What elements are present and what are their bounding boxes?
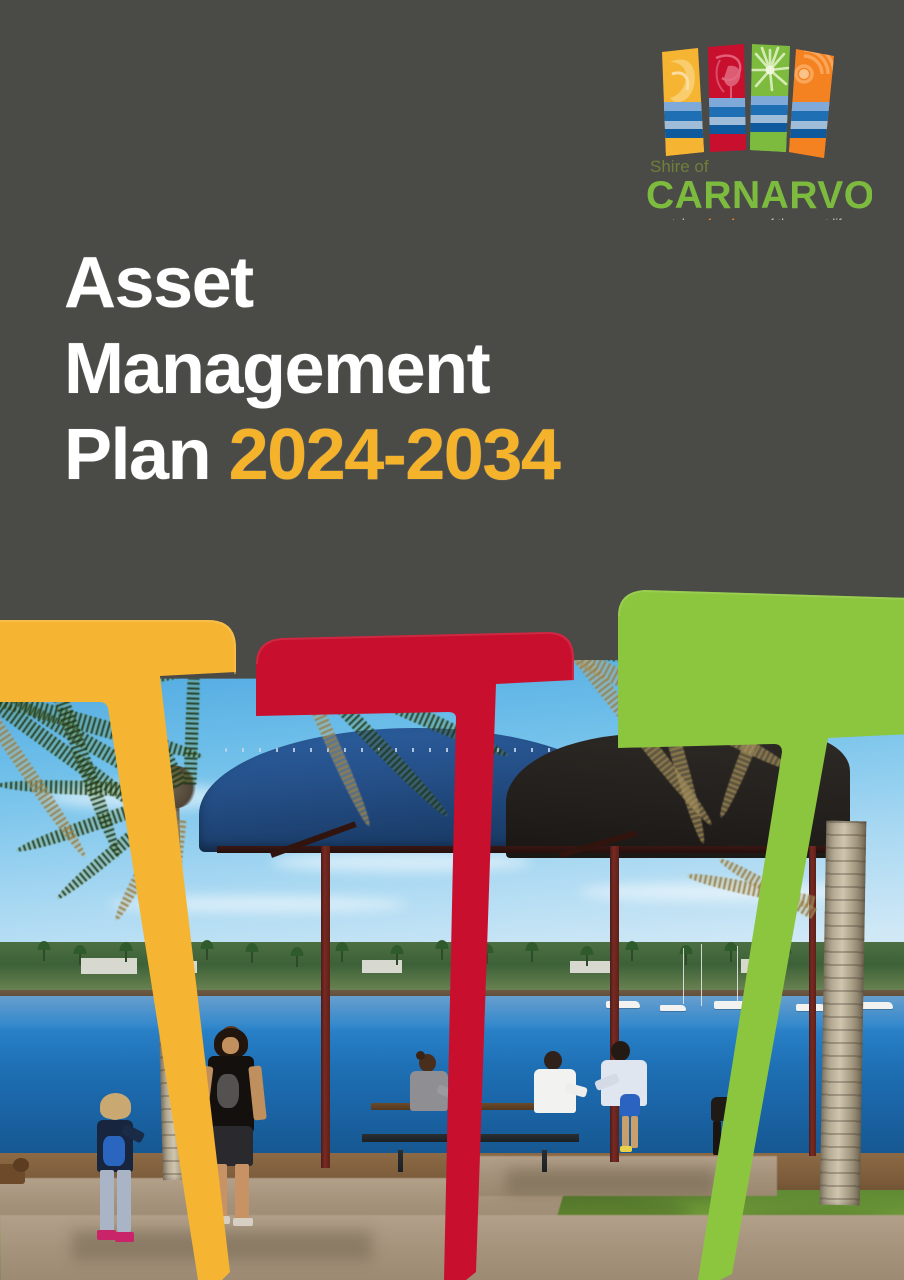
ribbon-green xyxy=(612,586,904,1280)
logo-tagline-after: of the great life xyxy=(763,216,849,220)
logo-org-name-value: CARNARVON xyxy=(632,220,633,221)
title-line-management: Management xyxy=(64,326,704,412)
title-line-plan-years: Plan 2024-2034 xyxy=(64,412,704,498)
title-line-asset: Asset xyxy=(64,240,704,326)
title-year-range: 2024-2034 xyxy=(229,415,560,495)
logo-org-prefix-value: Shire of xyxy=(632,220,633,221)
shire-of-carnarvon-logo: Shire of CARNARVON catch a taste of the … xyxy=(632,40,872,220)
logo-tagline-value: of the great life xyxy=(632,220,633,221)
logo-panel-banana xyxy=(656,40,712,164)
logo-panel-palm xyxy=(746,40,794,160)
title-word-plan: Plan xyxy=(64,415,210,495)
page-title: Asset Management Plan 2024-2034 xyxy=(64,240,704,498)
logo-tagline-accent: taste xyxy=(706,213,744,220)
logo-tagline-before: catch a xyxy=(658,216,701,220)
logo-panel-fish xyxy=(704,40,752,160)
logo-carnarvon-text: CARNARVON xyxy=(646,174,872,217)
document-cover: Shire of CARNARVON catch a taste of the … xyxy=(0,0,904,1280)
ribbon-yellow xyxy=(0,612,250,1280)
ribbon-red xyxy=(248,632,598,1280)
logo-panel-sun xyxy=(784,40,840,164)
